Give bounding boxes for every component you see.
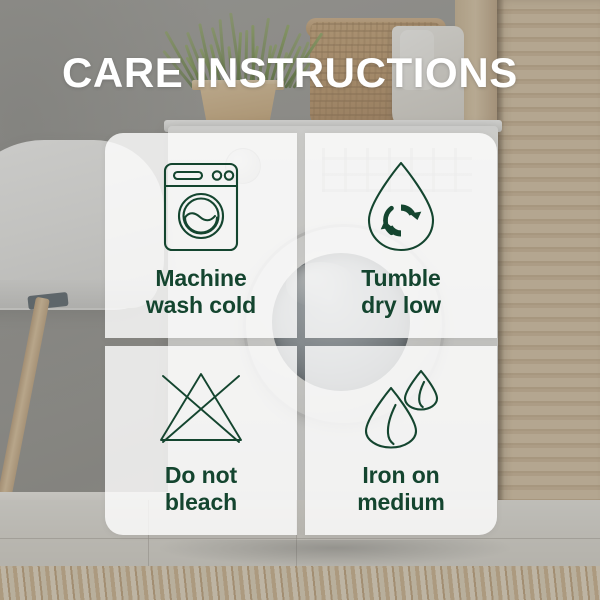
care-tile-iron-on-medium[interactable]: Iron on medium: [305, 346, 497, 535]
care-tile-label: Do not bleach: [165, 462, 237, 516]
droplet-tumble-dry-icon: [361, 155, 441, 259]
washing-machine-icon: [162, 155, 240, 259]
care-tile-label: Machine wash cold: [146, 265, 256, 319]
care-tile-grid: Machine wash cold Tumble dry low: [105, 133, 497, 535]
page-title: CARE INSTRUCTIONS: [62, 52, 518, 94]
care-tile-label: Tumble dry low: [361, 265, 441, 319]
care-instructions-graphic: CARE INSTRUCTIONS Machine wash cold: [0, 0, 600, 600]
iron-droplets-icon: [359, 360, 443, 456]
no-bleach-triangle-icon: [155, 360, 247, 456]
care-tile-label: Iron on medium: [357, 462, 445, 516]
care-tile-do-not-bleach[interactable]: Do not bleach: [105, 346, 297, 535]
care-tile-machine-wash-cold[interactable]: Machine wash cold: [105, 133, 297, 338]
care-tile-tumble-dry-low[interactable]: Tumble dry low: [305, 133, 497, 338]
